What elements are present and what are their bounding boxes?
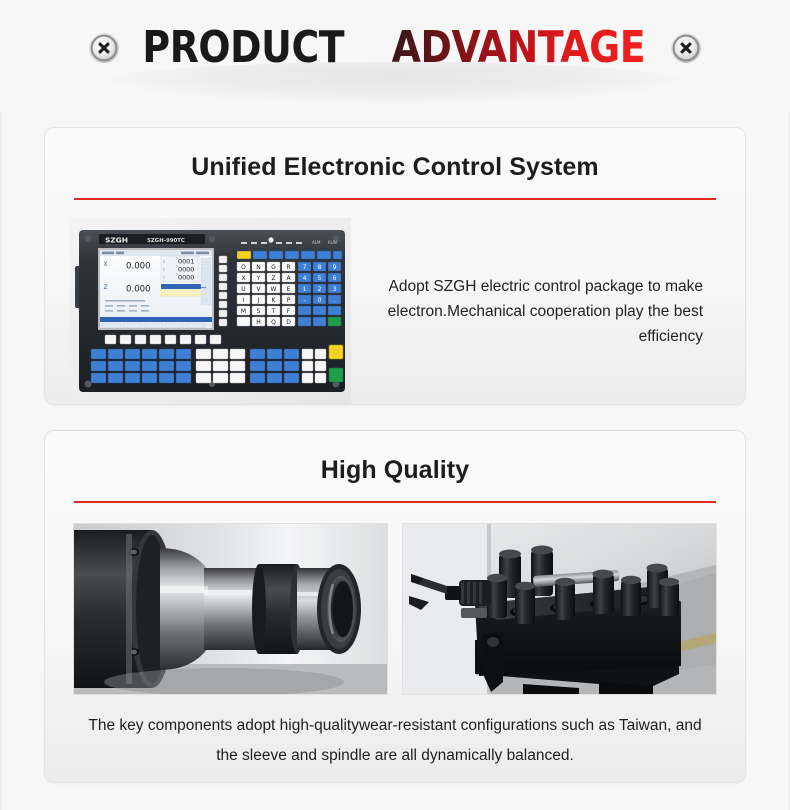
svg-text:RUN: RUN xyxy=(328,240,337,245)
svg-text:SZGH: SZGH xyxy=(105,235,128,244)
svg-text:X: X xyxy=(104,261,108,268)
svg-text:F: F xyxy=(287,308,291,315)
svg-text:Z: Z xyxy=(104,284,108,291)
svg-text:M: M xyxy=(241,308,246,315)
svg-text:J: J xyxy=(257,297,260,304)
header-title-advantage: ADVANTAGE xyxy=(392,26,646,70)
svg-text:SZGH-990TC: SZGH-990TC xyxy=(147,238,185,244)
svg-text:0.000: 0.000 xyxy=(126,262,151,272)
svg-text:U: U xyxy=(241,286,245,293)
screw-cross-icon-right xyxy=(670,32,702,64)
svg-text:R: R xyxy=(286,264,290,271)
svg-text:-: - xyxy=(303,297,305,304)
svg-text:Y: Y xyxy=(256,275,261,282)
svg-text:O: O xyxy=(241,264,246,271)
svg-text:W: W xyxy=(271,286,277,293)
card-high-quality: High Quality xyxy=(44,430,746,783)
cnc-control-panel-photo: SZGH SZGH-990TC X 0.000 Z 0.000 0001 000… xyxy=(69,218,351,404)
tool-turret-photo xyxy=(402,523,717,695)
card-title: Unified Electronic Control System xyxy=(45,128,745,182)
control-description: Adopt SZGH electric control package to m… xyxy=(351,274,721,349)
svg-text:Q: Q xyxy=(271,319,276,326)
svg-text:2: 2 xyxy=(318,286,322,293)
svg-text:7: 7 xyxy=(303,264,307,271)
svg-text:T: T xyxy=(271,308,276,315)
svg-text:X: X xyxy=(241,275,245,282)
svg-text:F: F xyxy=(163,268,165,272)
svg-text:G: G xyxy=(271,264,276,271)
svg-text:0000: 0000 xyxy=(178,274,194,282)
svg-text:1: 1 xyxy=(303,286,307,293)
svg-text:0: 0 xyxy=(318,297,322,304)
page-header-banner: PRODUCT ADVANTAGE xyxy=(0,0,790,112)
card-title: High Quality xyxy=(45,431,745,485)
svg-text:T: T xyxy=(162,276,165,280)
svg-text:Z: Z xyxy=(271,275,275,282)
svg-text:0001: 0001 xyxy=(178,258,194,266)
quality-description: The key components adopt high-qualitywea… xyxy=(45,695,745,771)
card-unified-electronic-control-system: Unified Electronic Control System xyxy=(44,127,746,405)
svg-text:ALM: ALM xyxy=(312,240,321,245)
svg-text:N: N xyxy=(256,264,261,271)
svg-text:0000: 0000 xyxy=(178,266,194,274)
svg-text:E: E xyxy=(287,286,291,293)
header-title-product: PRODUCT xyxy=(143,26,345,70)
svg-text:S: S xyxy=(257,308,261,315)
svg-text:S: S xyxy=(163,260,165,264)
svg-text:9: 9 xyxy=(333,264,337,271)
svg-text:6: 6 xyxy=(333,275,337,282)
svg-text:0.000: 0.000 xyxy=(126,285,151,295)
svg-text:P: P xyxy=(287,297,291,304)
svg-text:4: 4 xyxy=(303,275,307,282)
screw-cross-icon-left xyxy=(88,32,120,64)
svg-text:H: H xyxy=(256,319,261,326)
svg-text:.: . xyxy=(334,297,336,304)
svg-text:I: I xyxy=(243,297,245,304)
svg-text:3: 3 xyxy=(333,286,337,293)
quality-description-line1: The key components adopt high-qualitywea… xyxy=(88,717,614,734)
spindle-closeup-photo xyxy=(73,523,388,695)
svg-text:D: D xyxy=(286,319,291,326)
svg-text:8: 8 xyxy=(318,264,322,271)
svg-text:5: 5 xyxy=(318,275,322,282)
